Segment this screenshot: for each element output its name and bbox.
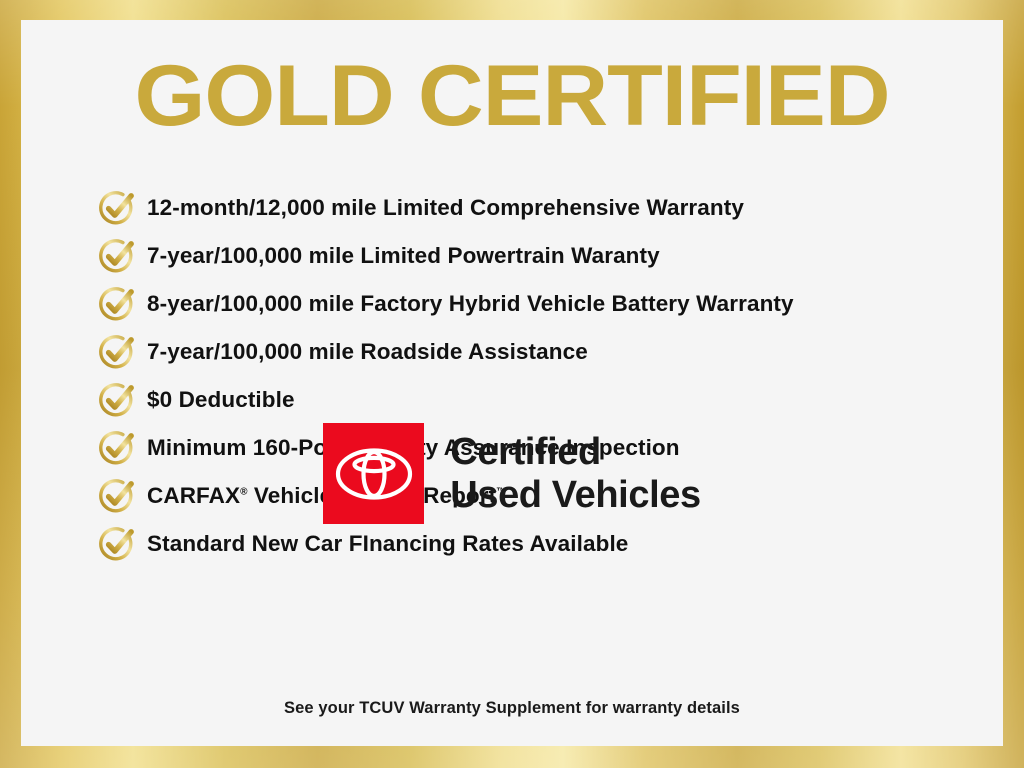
- gold-check-circle-icon: [95, 282, 139, 326]
- lockup-wordmark: Certified Used Vehicles: [450, 431, 700, 517]
- toyota-certified-used-vehicles-logo: Certified Used Vehicles: [21, 423, 1003, 524]
- benefit-label: Standard New Car FInancing Rates Availab…: [147, 531, 628, 557]
- list-item: 8-year/100,000 mile Factory Hybrid Vehic…: [95, 280, 995, 328]
- benefit-label: 7-year/100,000 mile Roadside Assistance: [147, 339, 588, 365]
- gold-check-circle-icon: [95, 378, 139, 422]
- page-title: GOLD CERTIFIED: [21, 48, 1003, 144]
- list-item: 7-year/100,000 mile Limited Powertrain W…: [95, 232, 995, 280]
- benefit-label: 7-year/100,000 mile Limited Powertrain W…: [147, 243, 660, 269]
- list-item: 7-year/100,000 mile Roadside Assistance: [95, 328, 995, 376]
- lockup-line-1: Certified: [450, 431, 700, 474]
- gold-check-circle-icon: [95, 522, 139, 566]
- lockup-line-2: Used Vehicles: [450, 474, 700, 517]
- gold-check-circle-icon: [95, 330, 139, 374]
- gold-check-circle-icon: [95, 234, 139, 278]
- warranty-disclaimer: See your TCUV Warranty Supplement for wa…: [21, 699, 1003, 718]
- benefit-label: 8-year/100,000 mile Factory Hybrid Vehic…: [147, 291, 794, 317]
- toyota-logo-badge: [323, 423, 424, 524]
- list-item: 12-month/12,000 mile Limited Comprehensi…: [95, 184, 995, 232]
- toyota-emblem: [335, 447, 413, 501]
- certification-card: GOLD CERTIFIED: [21, 20, 1003, 746]
- gold-check-circle-icon: [95, 186, 139, 230]
- benefit-label: 12-month/12,000 mile Limited Comprehensi…: [147, 195, 744, 221]
- list-item: $0 Deductible: [95, 376, 995, 424]
- list-item: Standard New Car FInancing Rates Availab…: [95, 520, 995, 568]
- gold-gradient-frame: GOLD CERTIFIED: [0, 0, 1024, 768]
- benefit-label: $0 Deductible: [147, 387, 295, 413]
